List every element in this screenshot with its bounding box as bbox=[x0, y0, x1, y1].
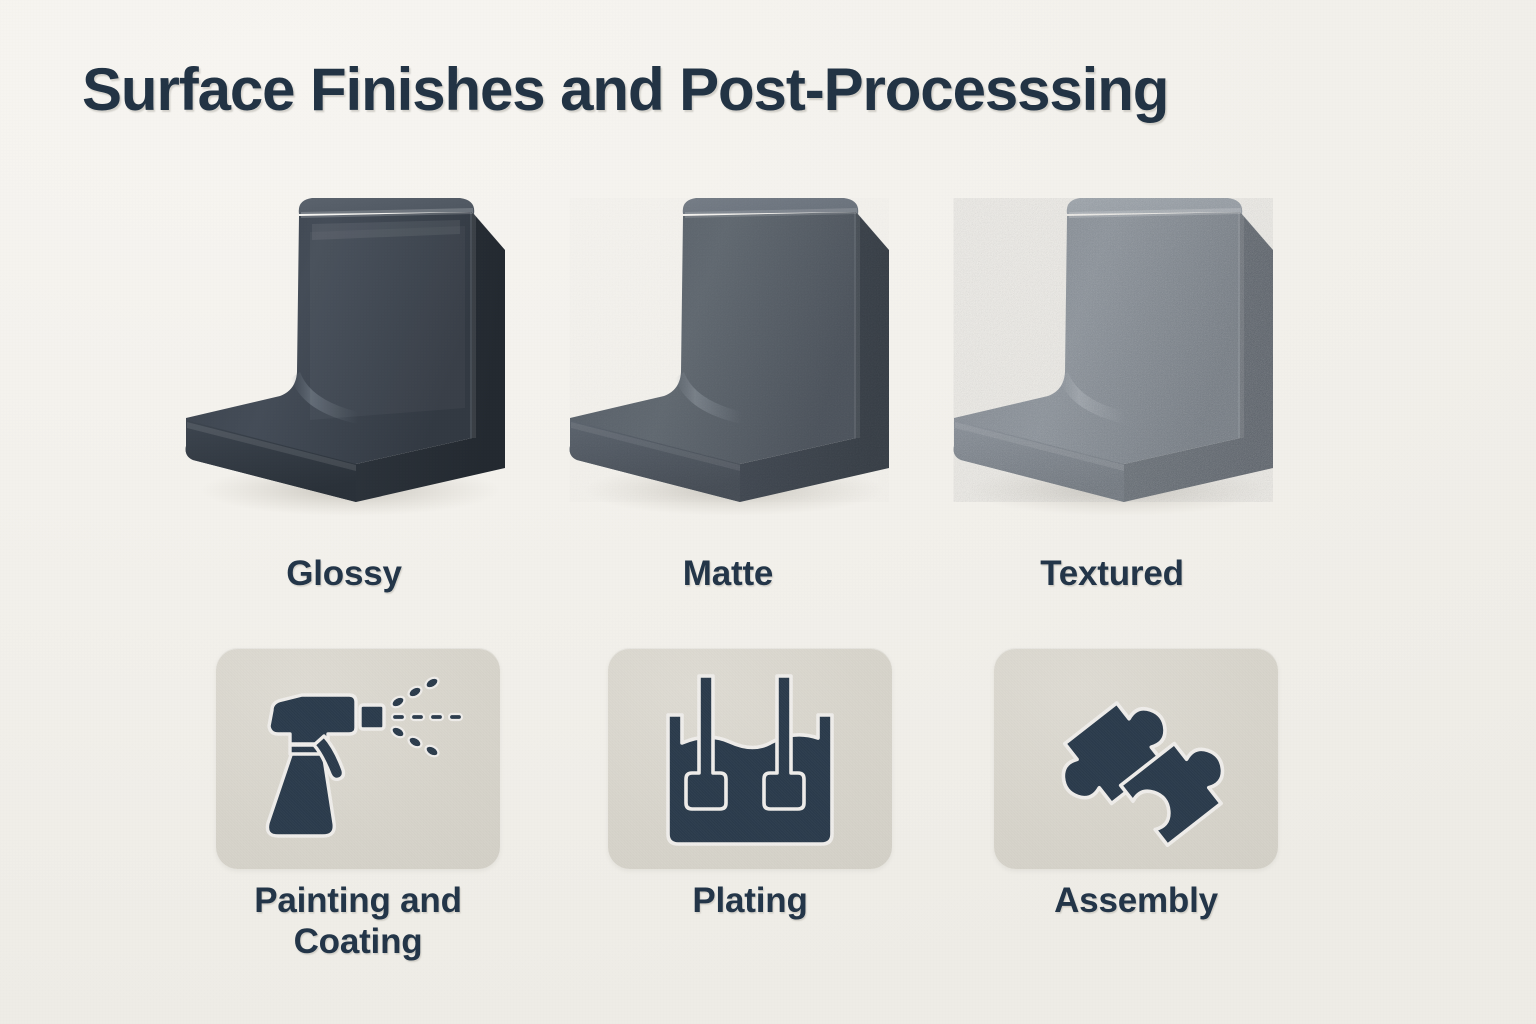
plating-tank-icon bbox=[608, 648, 892, 869]
finish-label: Textured bbox=[920, 554, 1304, 594]
surface-finish-row: Glossy bbox=[0, 170, 1536, 630]
process-label-line: Assembly bbox=[944, 880, 1328, 921]
process-label-line: Coating bbox=[166, 921, 550, 962]
process-label-line: Plating bbox=[558, 880, 942, 921]
bracket-stage bbox=[920, 170, 1304, 530]
l-bracket-3d bbox=[544, 172, 912, 524]
finish-sample-matte[interactable]: Matte bbox=[536, 170, 920, 630]
infographic-canvas: Surface Finishes and Post-Processsing bbox=[0, 0, 1536, 1024]
finish-sample-textured[interactable]: Textured bbox=[920, 170, 1304, 630]
post-processing-row: Painting and Coating P bbox=[0, 648, 1536, 988]
process-label: Plating bbox=[558, 880, 942, 921]
bracket-stage bbox=[536, 170, 920, 530]
finish-label: Glossy bbox=[152, 554, 536, 594]
page-title: Surface Finishes and Post-Processsing bbox=[82, 58, 1462, 121]
icon-card[interactable] bbox=[216, 648, 500, 869]
bracket-stage bbox=[152, 170, 536, 530]
l-bracket-3d bbox=[160, 172, 528, 524]
process-label: Painting and Coating bbox=[166, 880, 550, 963]
process-step-assembly[interactable]: Assembly bbox=[994, 648, 1278, 869]
process-label-line: Painting and bbox=[166, 880, 550, 921]
process-label: Assembly bbox=[944, 880, 1328, 921]
puzzle-pieces-icon bbox=[994, 648, 1278, 869]
l-bracket-3d bbox=[928, 172, 1296, 524]
finish-sample-glossy[interactable]: Glossy bbox=[152, 170, 536, 630]
icon-card[interactable] bbox=[994, 648, 1278, 869]
process-step-painting-and-coating[interactable]: Painting and Coating bbox=[216, 648, 500, 869]
finish-label: Matte bbox=[536, 554, 920, 594]
spray-bottle-icon bbox=[216, 648, 500, 869]
process-step-plating[interactable]: Plating bbox=[608, 648, 892, 869]
icon-card[interactable] bbox=[608, 648, 892, 869]
